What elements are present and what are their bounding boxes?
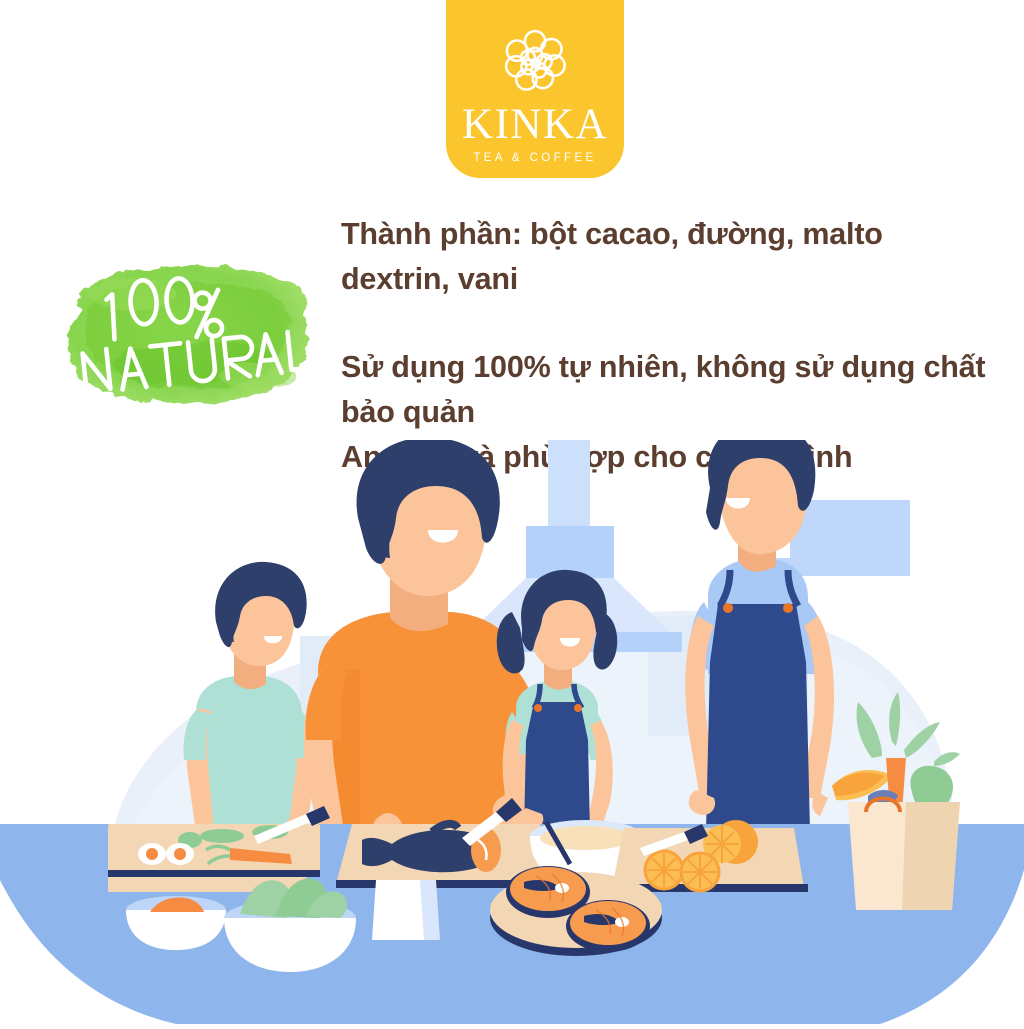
- illustration-svg: [0, 440, 1024, 1024]
- watercolor-brush-stroke: [62, 252, 314, 420]
- ingredients-line-1: Thành phần: bột cacao, đường, malto: [341, 212, 1017, 257]
- brand-name: KINKA: [462, 103, 608, 146]
- mother-character: [685, 440, 834, 832]
- ingredients-line-2: dextrin, vani: [341, 257, 1017, 302]
- natural-badge: 100% NATURAL: [62, 252, 314, 420]
- boy-character: [184, 562, 317, 839]
- brand-tagline: TEA & COFFEE: [473, 153, 596, 165]
- wall-shelf-top: [790, 500, 910, 566]
- brand-logo-badge: KINKA TEA & COFFEE: [446, 0, 624, 178]
- poster-canvas: KINKA TEA & COFFEE: [0, 0, 1024, 1024]
- benefit-line-2: bảo quản: [341, 390, 1017, 435]
- benefit-line-1: Sử dụng 100% tự nhiên, không sử dụng chấ…: [341, 345, 1017, 390]
- copy-spacer: [341, 302, 1017, 345]
- camellia-flower-icon: [496, 21, 574, 99]
- family-cooking-illustration: [0, 440, 1024, 1024]
- cutting-board-oranges: [612, 820, 808, 892]
